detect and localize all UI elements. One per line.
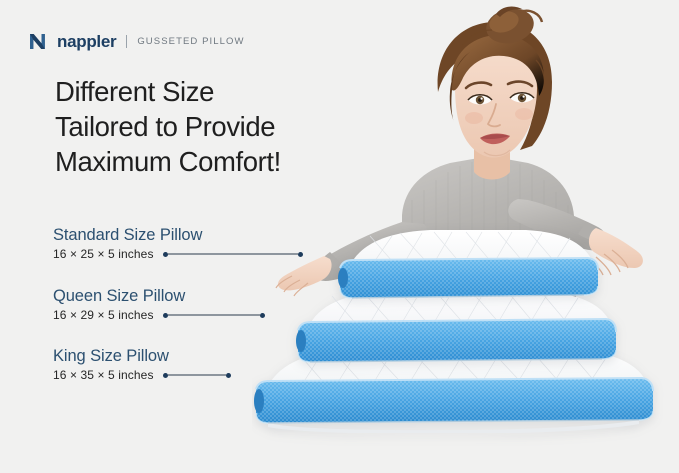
brand-tagline: GUSSETED PILLOW: [137, 36, 244, 47]
leader-stroke: [168, 314, 260, 315]
callout-standard-dimensions: 16 × 25 × 5 inches: [53, 247, 154, 261]
callout-queen-title: Queen Size Pillow: [53, 287, 265, 305]
callout-king: King Size Pillow 16 × 35 × 5 inches: [53, 347, 231, 382]
leader-line-king: [163, 373, 231, 378]
callout-queen-dimensions: 16 × 29 × 5 inches: [53, 308, 154, 322]
leader-dot-end-icon: [226, 373, 231, 378]
leader-stroke: [168, 374, 226, 375]
nappler-n-monogram-icon: [28, 31, 49, 52]
callout-queen: Queen Size Pillow 16 × 29 × 5 inches: [53, 287, 265, 322]
pillow-standard[interactable]: [330, 228, 602, 306]
callout-king-dimensions: 16 × 35 × 5 inches: [53, 368, 154, 382]
brand-separator: [126, 35, 127, 48]
leader-line-queen: [163, 313, 265, 318]
brand-lockup: nappler GUSSETED PILLOW: [28, 31, 245, 52]
infographic-canvas: nappler GUSSETED PILLOW Different Size T…: [0, 0, 679, 473]
brand-name: nappler: [57, 33, 116, 50]
product-photo: [252, 0, 679, 473]
callout-king-title: King Size Pillow: [53, 347, 231, 365]
